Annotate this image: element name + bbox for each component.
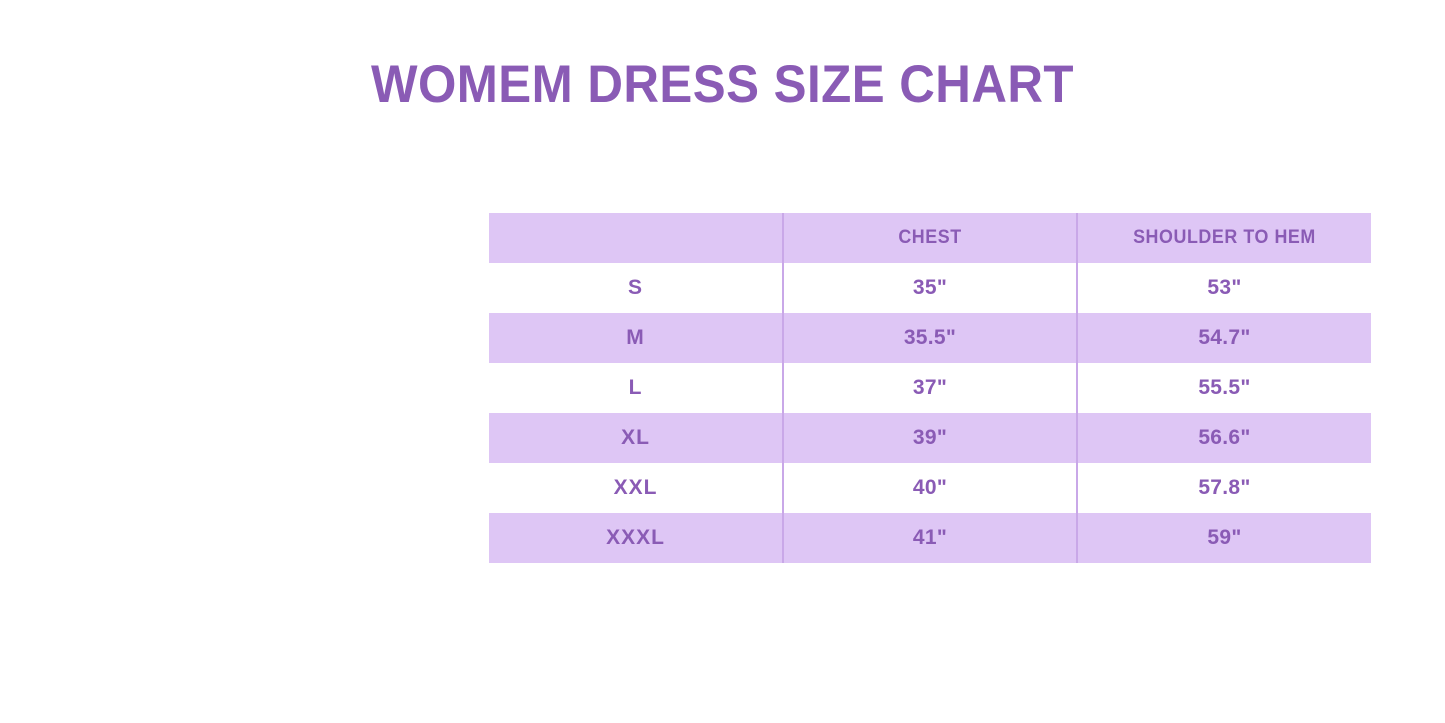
table-row: M 35.5" 54.7" xyxy=(489,313,1371,363)
cell-size: XXXL xyxy=(489,513,783,563)
size-chart-table-container: CHEST SHOULDER TO HEM S 35" 53" M 35.5" … xyxy=(489,213,1371,563)
cell-size: L xyxy=(489,363,783,413)
cell-size: XXL xyxy=(489,463,783,513)
cell-shoulder-to-hem: 57.8" xyxy=(1077,463,1371,513)
cell-shoulder-to-hem: 54.7" xyxy=(1077,313,1371,363)
table-header-row: CHEST SHOULDER TO HEM xyxy=(489,213,1371,263)
cell-size: XL xyxy=(489,413,783,463)
cell-size: S xyxy=(489,263,783,313)
cell-size: M xyxy=(489,313,783,363)
cell-shoulder-to-hem: 59" xyxy=(1077,513,1371,563)
cell-chest: 39" xyxy=(783,413,1077,463)
table-header: CHEST SHOULDER TO HEM xyxy=(489,213,1371,263)
cell-chest: 40" xyxy=(783,463,1077,513)
column-header-shoulder-to-hem: SHOULDER TO HEM xyxy=(1086,213,1362,263)
cell-chest: 35" xyxy=(783,263,1077,313)
table-row: XXL 40" 57.8" xyxy=(489,463,1371,513)
table-row: L 37" 55.5" xyxy=(489,363,1371,413)
cell-shoulder-to-hem: 56.6" xyxy=(1077,413,1371,463)
table-row: XL 39" 56.6" xyxy=(489,413,1371,463)
cell-chest: 37" xyxy=(783,363,1077,413)
size-chart-page: WOMEM DRESS SIZE CHART CHEST SHOULDER TO… xyxy=(0,0,1445,723)
page-title: WOMEM DRESS SIZE CHART xyxy=(51,57,1395,113)
column-header-size xyxy=(498,213,774,263)
size-chart-table: CHEST SHOULDER TO HEM S 35" 53" M 35.5" … xyxy=(489,213,1371,563)
table-row: XXXL 41" 59" xyxy=(489,513,1371,563)
cell-shoulder-to-hem: 55.5" xyxy=(1077,363,1371,413)
column-header-chest: CHEST xyxy=(792,213,1068,263)
cell-chest: 41" xyxy=(783,513,1077,563)
table-body: S 35" 53" M 35.5" 54.7" L 37" 55.5" XL 3… xyxy=(489,263,1371,563)
cell-shoulder-to-hem: 53" xyxy=(1077,263,1371,313)
cell-chest: 35.5" xyxy=(783,313,1077,363)
table-row: S 35" 53" xyxy=(489,263,1371,313)
